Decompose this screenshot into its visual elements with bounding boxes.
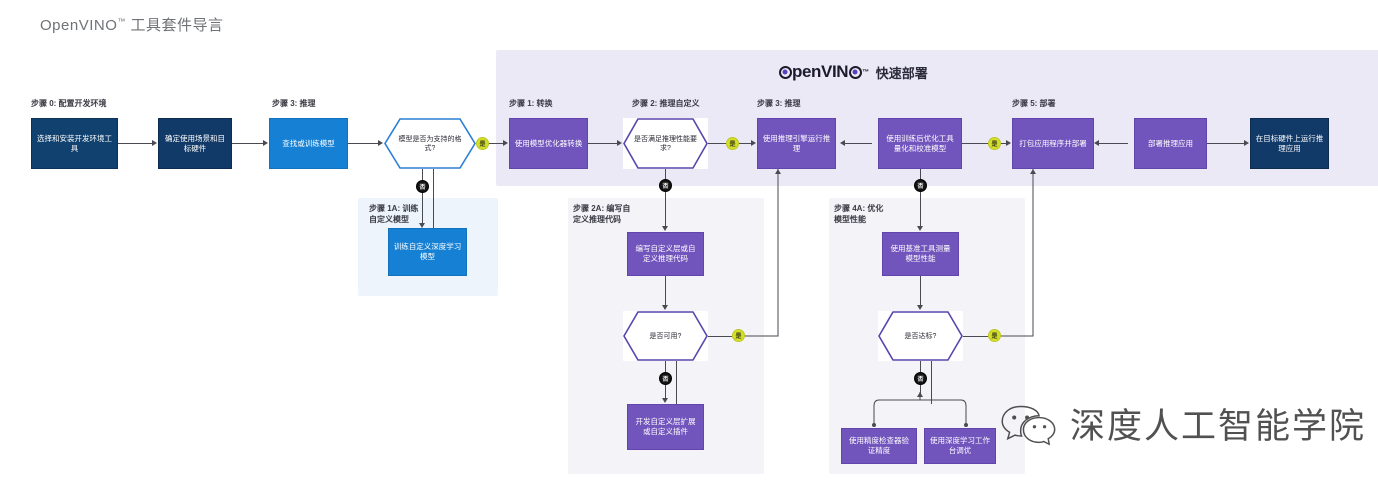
arrow-icon [419,223,425,228]
node-write-custom-layer[interactable]: 编写自定义层或自定义推理代码 [627,232,704,276]
arrow-icon [1006,140,1011,146]
connector [433,169,434,228]
connector [739,143,751,144]
arrow-icon [751,140,756,146]
connector [1207,143,1244,144]
connector [708,336,732,337]
connector-elbow [1001,169,1061,339]
node-label: 是否满足推理性能要求? [623,135,708,153]
badge-no: 否 [659,372,672,385]
node-label: 使用推理引擎运行推理 [762,134,831,154]
flowchart-canvas: OpenVINO™ 工具套件导言 penVIN™ 快速部署 步骤 0: 配置开发… [0,0,1378,486]
wechat-logo-icon [1000,401,1056,447]
node-label: 在目标硬件上运行推理应用 [1255,134,1324,154]
node-quantize-calibrate[interactable]: 使用训练后优化工具量化和校准模型 [878,118,962,169]
decision-inference-perf[interactable]: 是否满足推理性能要求? [623,118,708,169]
node-label: 选择和安装开发环境工具 [36,134,113,154]
step-label-1a: 步骤 1A: 训练 自定义模型 [369,203,418,225]
badge-yes: 是 [476,137,489,150]
badge-no: 否 [416,180,429,193]
decision-meets-target[interactable]: 是否达标? [878,311,963,361]
connector [232,143,263,144]
step-label-5: 步骤 5: 部署 [1012,98,1056,109]
node-label: 使用深度学习工作台调优 [929,436,991,456]
badge-yes: 是 [732,329,745,342]
badge-yes: 是 [988,137,1001,150]
arrow-icon [662,305,668,310]
decision-supported-format[interactable]: 模型是否为支持的格式? [384,118,476,169]
node-label: 使用训练后优化工具量化和校准模型 [883,134,957,154]
arrow-icon [1030,169,1036,174]
trademark-symbol: ™ [117,17,126,26]
connector [118,143,152,144]
step-label-2a: 步骤 2A: 编写自 定义推理代码 [573,203,630,225]
arrow-icon [662,226,668,231]
page-title-rest: 工具套件导言 [126,17,224,34]
node-convert-model-optimizer[interactable]: 使用模型优化器转换 [509,118,588,169]
arrow-icon [917,226,923,231]
node-label: 使用模型优化器转换 [515,139,583,149]
node-label: 确定使用场景和目标硬件 [163,134,227,154]
node-label: 编写自定义层或自定义推理代码 [632,244,699,264]
connector [588,143,617,144]
arrow-icon [1094,140,1099,146]
arrow-icon [840,140,845,146]
node-dl-workbench[interactable]: 使用深度学习工作台调优 [924,428,996,464]
arrow-icon [152,140,157,146]
node-label: 是否达标? [895,332,947,341]
connector [920,361,921,372]
arrow-icon [917,305,923,310]
node-find-or-train-model[interactable]: 查找或训练模型 [269,118,348,169]
connector [962,143,988,144]
node-run-on-target-hardware[interactable]: 在目标硬件上运行推理应用 [1250,118,1329,169]
step-label-3: 步骤 3: 推理 [757,98,801,109]
openvino-o-icon [779,66,792,79]
watermark-text: 深度人工智能学院 [1070,398,1366,449]
badge-no: 否 [914,372,927,385]
node-label: 查找或训练模型 [282,139,335,149]
page-title: OpenVINO™ 工具套件导言 [40,14,224,35]
decision-is-available[interactable]: 是否可用? [623,311,708,361]
step-label-1: 步骤 1: 转换 [509,98,553,109]
node-label: 部署推理应用 [1148,139,1193,149]
connector [348,143,378,144]
openvino-subtitle: 快速部署 [876,63,928,82]
connector-dot [964,423,968,427]
openvino-brand-part1: pen [792,62,821,82]
arrow-icon [263,140,268,146]
connector [665,385,666,398]
node-select-install-tools[interactable]: 选择和安装开发环境工具 [31,118,118,169]
node-benchmark-model[interactable]: 使用基准工具测量模型性能 [882,232,959,276]
node-label: 打包应用程序并部署 [1019,139,1087,149]
connector [920,276,921,305]
connector [422,193,423,223]
openvino-banner: penVIN™ 快速部署 [778,62,928,82]
watermark: 深度人工智能学院 [1000,398,1366,449]
connector [920,192,921,226]
badge-no: 否 [659,179,672,192]
node-label: 开发自定义层扩展或自定义插件 [632,417,699,437]
node-label: 训练自定义深度学习模型 [393,242,462,262]
node-define-usecase[interactable]: 确定使用场景和目标硬件 [158,118,232,169]
connector [708,143,726,144]
arrow-icon [503,140,508,146]
step-label-3b: 步骤 3: 推理 [272,98,316,109]
connector [676,361,677,404]
node-label: 使用基准工具测量模型性能 [887,244,954,264]
step-label-2: 步骤 2: 推理自定义 [632,98,700,109]
node-deploy-inference-app[interactable]: 部署推理应用 [1134,118,1207,169]
openvino-tm: ™ [862,69,869,76]
badge-yes: 是 [988,329,1001,342]
node-train-custom-model[interactable]: 训练自定义深度学习模型 [388,228,467,276]
connector [665,361,666,372]
connector-dot [872,423,876,427]
arrow-icon [917,392,923,397]
connector [1099,143,1128,144]
badge-yes: 是 [726,137,739,150]
arrow-icon [662,398,668,403]
connector [665,192,666,226]
node-label: 使用精度检查器验证精度 [846,436,912,456]
arrow-icon [617,140,622,146]
step-label-0: 步骤 0: 配置开发环境 [31,98,107,109]
connector [845,143,872,144]
node-package-deploy[interactable]: 打包应用程序并部署 [1012,118,1094,169]
arrow-icon [1244,140,1249,146]
openvino-brand-part2: VIN [821,62,848,82]
connector [489,143,503,144]
page-title-brand: OpenVINO [40,17,117,34]
node-accuracy-checker[interactable]: 使用精度检查器验证精度 [841,428,917,464]
arrow-icon [378,140,383,146]
connector [963,336,988,337]
openvino-o-icon-2 [849,66,862,79]
badge-no: 否 [914,179,927,192]
connector [665,276,666,305]
connector [931,361,932,404]
openvino-wordmark: penVIN™ [778,62,869,82]
node-run-inference-engine[interactable]: 使用推理引擎运行推理 [757,118,836,169]
step-label-4a: 步骤 4A: 优化 模型性能 [834,203,883,225]
node-label: 是否可用? [640,332,692,341]
node-develop-extension[interactable]: 开发自定义层扩展或自定义插件 [627,404,704,450]
connector-elbow [745,169,805,339]
arrow-icon [775,169,781,174]
node-label: 模型是否为支持的格式? [384,135,476,153]
